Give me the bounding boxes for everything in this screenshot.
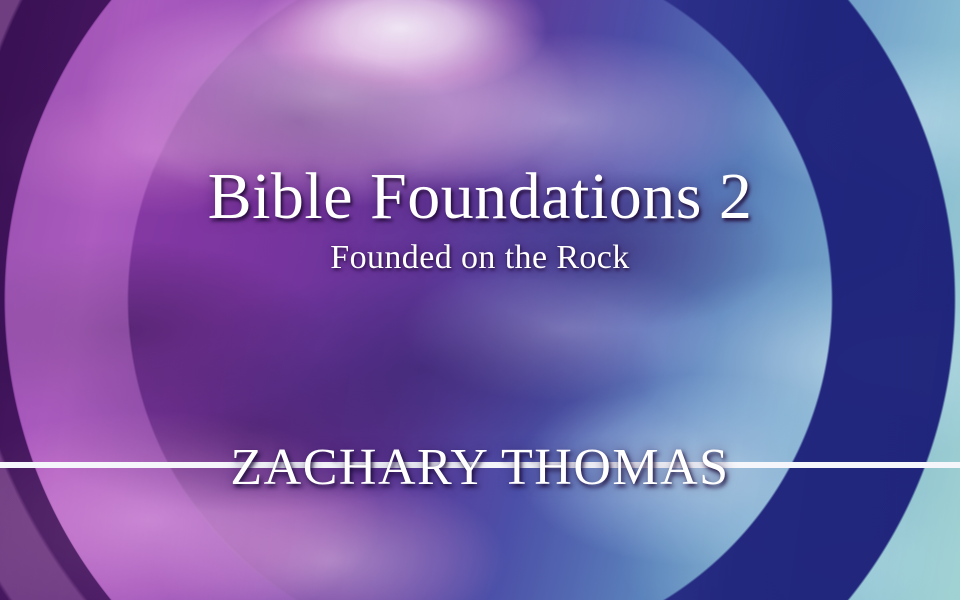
cover-subtitle: Founded on the Rock <box>0 241 960 275</box>
cover-title: Bible Foundations 2 <box>0 164 960 230</box>
cover-author-name: ZACHARY THOMAS <box>0 440 960 496</box>
cover-text-layer: Bible Foundations 2 Founded on the Rock … <box>0 0 960 600</box>
book-cover: Bible Foundations 2 Founded on the Rock … <box>0 0 960 600</box>
author-block: ZACHARY THOMAS <box>0 440 960 500</box>
